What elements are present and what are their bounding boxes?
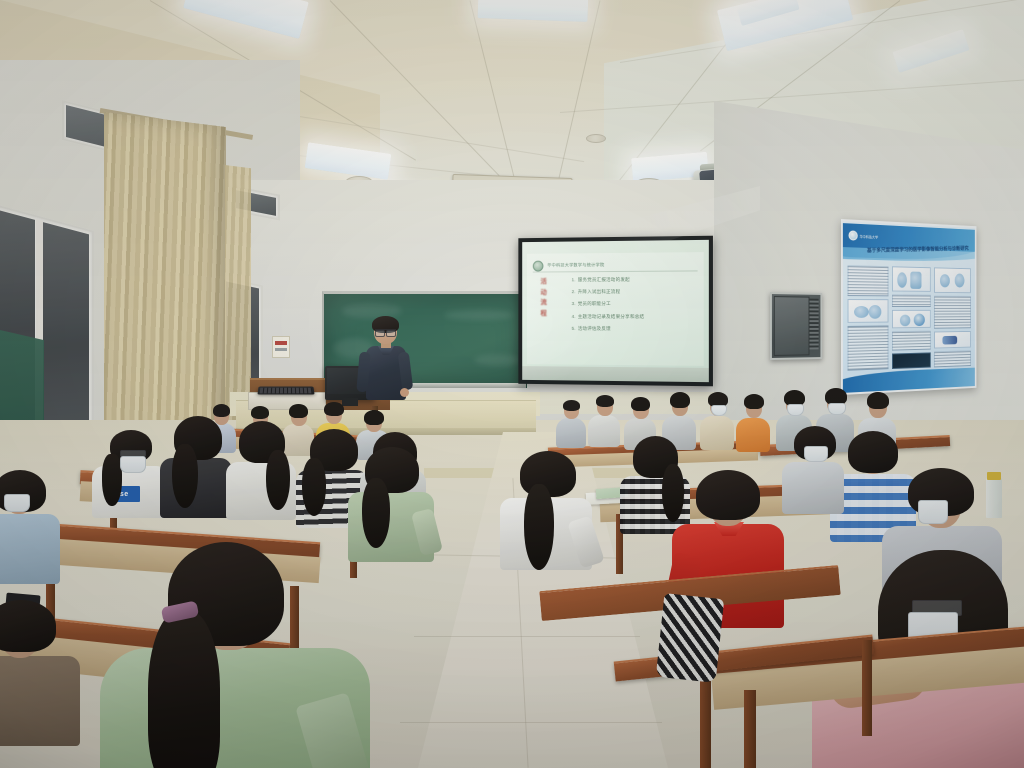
- student-white-tee-logo: ise: [92, 432, 168, 514]
- poster-column-3: [934, 267, 971, 367]
- face-mask: [120, 456, 146, 473]
- water-bottle: [986, 478, 1002, 518]
- slide-org-name: 华中科技大学数学与统计学院: [547, 262, 604, 268]
- ceiling-speaker-3: [586, 134, 606, 143]
- slide-side-char-2: 动: [541, 290, 547, 296]
- student-white-tee-mid: [500, 452, 592, 568]
- poster-column-2: [892, 266, 931, 369]
- projection-screen: 华中科技大学数学与统计学院 活 动 流 程 1.服务党员汇报活动的发起 2.升降…: [518, 236, 713, 387]
- student-mid-left-2: [226, 424, 296, 518]
- student-mint-shirt: [348, 448, 434, 560]
- student-left-edge: [0, 470, 60, 580]
- screen-lower-band: [522, 366, 709, 382]
- slide-side-char-3: 流: [541, 300, 547, 306]
- keyboard[interactable]: [257, 387, 314, 395]
- slide-side-char-4: 程: [541, 311, 547, 317]
- research-poster: 华中科技大学 基于多尺度深度学习的医学影像智能分析与诊断研究: [841, 219, 976, 395]
- poster-logo-mark-icon: [848, 230, 857, 240]
- face-mask: [918, 500, 948, 524]
- ceiling-light-8: [478, 0, 589, 22]
- university-logo-icon: [533, 260, 544, 271]
- lecturer-glasses-icon: [375, 329, 396, 335]
- poster-column-1: [848, 265, 889, 371]
- student-far-r2: [588, 394, 620, 446]
- wall-notice-sign: [272, 336, 290, 358]
- slide-list-item: 3.党员的职能分工: [572, 301, 696, 307]
- face-mask: [4, 494, 30, 512]
- student-dark-left: [160, 420, 232, 516]
- poster-columns: [848, 265, 971, 371]
- poster-org-name: 华中科技大学: [860, 233, 878, 239]
- lecturer: [356, 318, 416, 410]
- poster-logo: 华中科技大学: [848, 230, 878, 241]
- student-back-right-mask: [782, 426, 844, 512]
- student-far-r1: [556, 398, 586, 446]
- lecturer-hand: [400, 388, 409, 397]
- presentation-slide: 华中科技大学数学与统计学院 活 动 流 程 1.服务党员汇报活动的发起 2.升降…: [527, 252, 704, 366]
- slide-list-item: 2.升降入试出科正流程: [572, 289, 696, 295]
- slide-list-item: 5.活动评估及反馈: [572, 326, 696, 332]
- slide-list-item: 1.服务党员汇报活动的发起: [572, 277, 696, 284]
- student-green-shirt-front: [100, 548, 370, 768]
- student-far-r5: [700, 392, 734, 448]
- slide-side-char-1: 活: [541, 279, 547, 285]
- bottle-cap: [987, 472, 1001, 480]
- backpack: [656, 593, 724, 683]
- student-left-edge-2: [0, 600, 80, 740]
- slide-header: 华中科技大学数学与统计学院: [533, 258, 698, 272]
- slide-agenda-list: 1.服务党员汇报活动的发起 2.升降入试出科正流程 3.党员的职能分工 4.主题…: [572, 277, 696, 333]
- student-far-r6-orange: [736, 394, 770, 450]
- wall-control-cabinet[interactable]: [770, 292, 822, 360]
- face-mask: [804, 446, 828, 462]
- slide-side-label: 活 动 流 程: [541, 279, 547, 317]
- slide-list-item: 4.主题活动记录及结果分享和总结: [572, 314, 696, 320]
- classroom-photo: 华中科技大学数学与统计学院 活 动 流 程 1.服务党员汇报活动的发起 2.升降…: [0, 0, 1024, 768]
- ceiling-light-1: [183, 0, 309, 39]
